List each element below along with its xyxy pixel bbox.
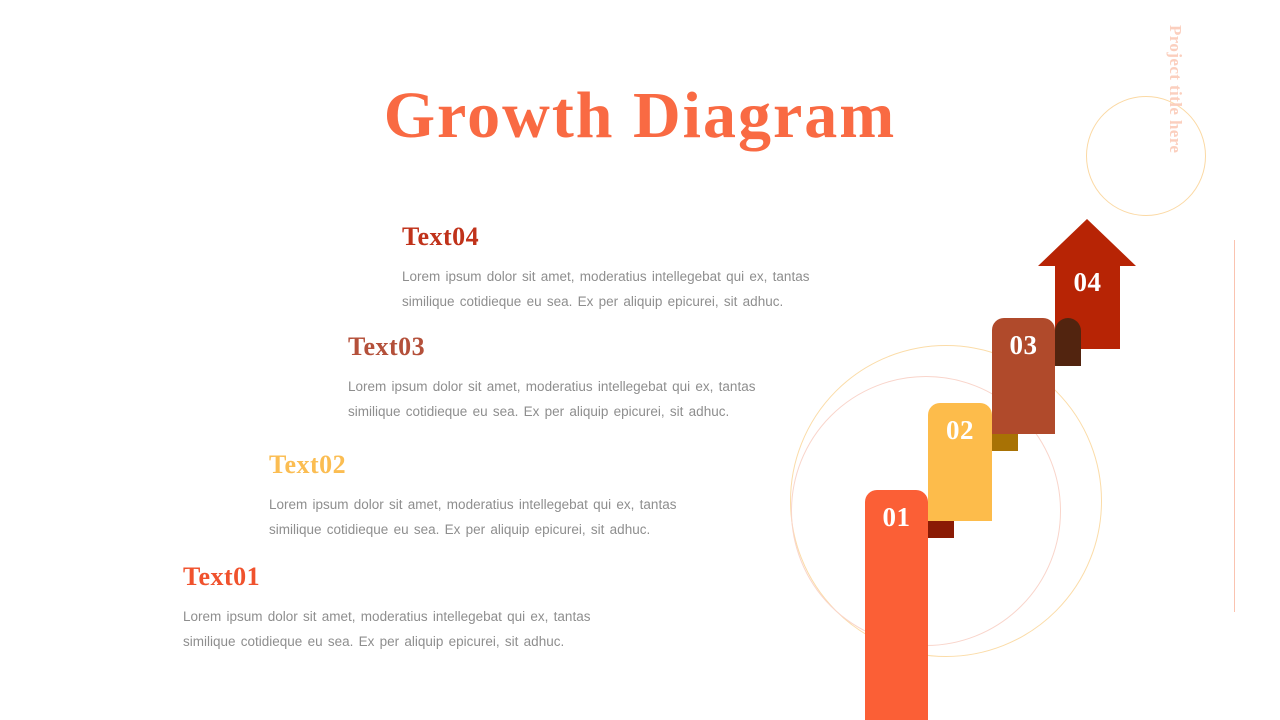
chart-bar-01-label: 01 — [865, 502, 928, 533]
text-block-02-line1: Lorem ipsum dolor sit amet, moderatius i… — [269, 492, 709, 517]
text-block-04-line1: Lorem ipsum dolor sit amet, moderatius i… — [402, 264, 842, 289]
slide-canvas: Project title here Growth Diagram Text04… — [0, 0, 1280, 720]
decor-vertical-rule — [1234, 240, 1235, 612]
text-block-02-body: Lorem ipsum dolor sit amet, moderatius i… — [269, 492, 709, 542]
text-block-01-body: Lorem ipsum dolor sit amet, moderatius i… — [183, 604, 623, 654]
text-block-04-body: Lorem ipsum dolor sit amet, moderatius i… — [402, 264, 842, 314]
text-block-03: Text03 Lorem ipsum dolor sit amet, moder… — [348, 332, 788, 424]
text-block-01: Text01 Lorem ipsum dolor sit amet, moder… — [183, 562, 623, 654]
text-block-04: Text04 Lorem ipsum dolor sit amet, moder… — [402, 222, 842, 314]
text-block-03-line2: similique cotidieque eu sea. Ex per aliq… — [348, 399, 788, 424]
chart-bar-04-label: 04 — [1055, 267, 1120, 298]
text-block-03-body: Lorem ipsum dolor sit amet, moderatius i… — [348, 374, 788, 424]
page-title: Growth Diagram — [0, 78, 1280, 154]
text-block-03-line1: Lorem ipsum dolor sit amet, moderatius i… — [348, 374, 788, 399]
chart-bar-02[interactable]: 02 — [928, 403, 992, 521]
text-block-03-heading: Text03 — [348, 332, 788, 362]
text-block-02-heading: Text02 — [269, 450, 709, 480]
chart-bar-04-arrow-up-icon — [1038, 219, 1136, 266]
chart-bar-03-label: 03 — [992, 330, 1055, 361]
text-block-02-line2: similique cotidieque eu sea. Ex per aliq… — [269, 517, 709, 542]
text-block-04-heading: Text04 — [402, 222, 842, 252]
text-block-04-line2: similique cotidieque eu sea. Ex per aliq… — [402, 289, 842, 314]
chart-bar-02-label: 02 — [928, 415, 992, 446]
text-block-01-line2: similique cotidieque eu sea. Ex per aliq… — [183, 629, 623, 654]
text-block-01-line1: Lorem ipsum dolor sit amet, moderatius i… — [183, 604, 623, 629]
chart-bar-01[interactable]: 01 — [865, 490, 928, 720]
text-block-01-heading: Text01 — [183, 562, 623, 592]
chart-bar-04-tab — [1055, 318, 1081, 349]
chart-bar-03[interactable]: 03 — [992, 318, 1055, 434]
text-block-02: Text02 Lorem ipsum dolor sit amet, moder… — [269, 450, 709, 542]
